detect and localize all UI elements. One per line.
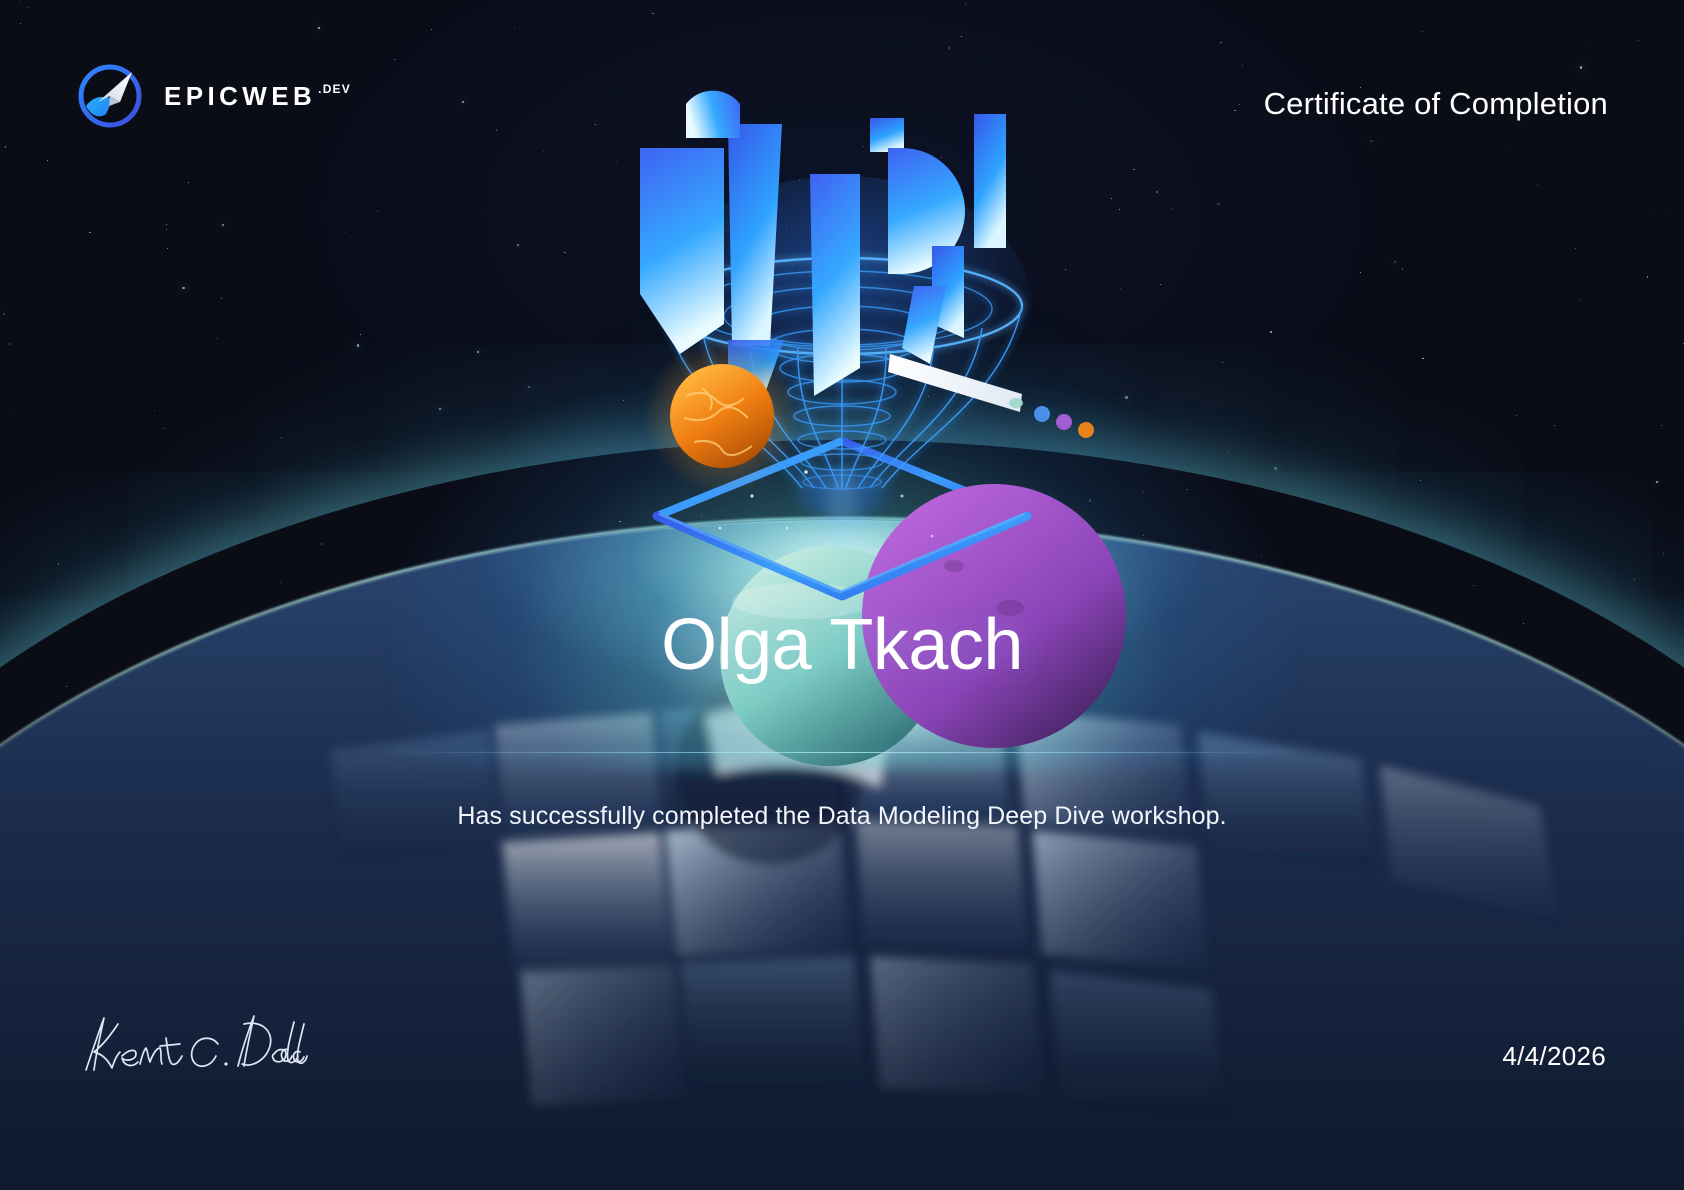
brand-suffix: .DEV bbox=[318, 82, 351, 96]
star bbox=[1638, 40, 1639, 41]
star bbox=[1670, 213, 1671, 214]
star bbox=[595, 124, 596, 125]
star bbox=[216, 338, 217, 339]
star bbox=[1239, 104, 1240, 105]
star bbox=[154, 410, 155, 411]
star bbox=[1360, 272, 1361, 273]
star bbox=[1420, 480, 1421, 481]
star bbox=[167, 248, 168, 249]
orange-planet bbox=[644, 338, 800, 494]
star bbox=[377, 210, 378, 211]
star bbox=[1119, 209, 1120, 210]
star bbox=[514, 27, 515, 28]
star bbox=[318, 27, 320, 29]
star bbox=[1575, 248, 1576, 249]
brand-wordmark: EPICWEB .DEV bbox=[164, 81, 351, 112]
star bbox=[431, 29, 432, 30]
star bbox=[47, 160, 48, 161]
certificate-title: Certificate of Completion bbox=[1264, 86, 1608, 122]
star bbox=[1217, 203, 1220, 206]
star bbox=[1554, 425, 1555, 426]
star bbox=[1186, 489, 1187, 490]
star bbox=[1422, 31, 1423, 32]
star bbox=[1156, 191, 1158, 193]
star bbox=[1222, 362, 1223, 363]
star bbox=[360, 334, 361, 335]
star bbox=[1171, 208, 1172, 209]
star bbox=[1656, 481, 1658, 483]
star bbox=[1270, 331, 1271, 332]
star bbox=[1111, 198, 1112, 199]
star bbox=[27, 7, 28, 8]
star bbox=[5, 146, 6, 147]
star bbox=[1402, 268, 1403, 269]
epicweb-rocket-logo-icon bbox=[76, 62, 144, 130]
star bbox=[1089, 499, 1092, 502]
star bbox=[19, 1, 20, 2]
star bbox=[1242, 65, 1243, 66]
wormhole-artwork bbox=[602, 96, 1082, 616]
star bbox=[782, 49, 783, 50]
issue-date: 4/4/2026 bbox=[1502, 1041, 1606, 1072]
star bbox=[1234, 110, 1235, 111]
star bbox=[20, 23, 21, 24]
star bbox=[222, 224, 224, 226]
recipient-name: Olga Tkach bbox=[0, 604, 1684, 686]
certificate-canvas: EPICWEB .DEV Certificate of Completion bbox=[0, 0, 1684, 1190]
star bbox=[1516, 415, 1517, 416]
completion-statement: Has successfully completed the Data Mode… bbox=[0, 802, 1684, 831]
star bbox=[166, 224, 167, 225]
star bbox=[1579, 300, 1580, 301]
star bbox=[1274, 467, 1277, 470]
star bbox=[477, 351, 479, 353]
star bbox=[1422, 358, 1423, 359]
star bbox=[345, 232, 346, 233]
star bbox=[1227, 451, 1228, 452]
star bbox=[1370, 140, 1373, 143]
star bbox=[965, 4, 966, 5]
star bbox=[1649, 208, 1650, 209]
brand-logo[interactable]: EPICWEB .DEV bbox=[76, 62, 351, 130]
star bbox=[961, 36, 962, 37]
star bbox=[564, 252, 565, 253]
star bbox=[1120, 288, 1121, 289]
star bbox=[182, 287, 185, 290]
star bbox=[543, 151, 544, 152]
star bbox=[1220, 42, 1221, 43]
star bbox=[9, 408, 10, 409]
star bbox=[163, 428, 164, 429]
divider bbox=[392, 752, 1292, 753]
brand-name: EPICWEB bbox=[164, 81, 316, 112]
star bbox=[496, 129, 497, 130]
star bbox=[357, 344, 360, 347]
star bbox=[1661, 425, 1662, 426]
star bbox=[1509, 151, 1510, 152]
star bbox=[528, 386, 530, 388]
star bbox=[1537, 184, 1538, 185]
star bbox=[166, 229, 167, 230]
star bbox=[281, 437, 282, 438]
star bbox=[394, 59, 395, 60]
signature: Kent C. Dodds bbox=[78, 1008, 308, 1078]
star bbox=[9, 343, 11, 345]
star bbox=[1580, 66, 1583, 69]
star bbox=[1160, 284, 1161, 285]
star bbox=[1394, 261, 1396, 263]
star bbox=[221, 298, 222, 299]
star bbox=[1133, 169, 1134, 170]
star bbox=[1125, 396, 1128, 399]
star bbox=[1106, 498, 1107, 499]
star bbox=[1589, 47, 1590, 48]
star bbox=[188, 182, 189, 183]
star bbox=[652, 13, 653, 14]
star bbox=[439, 408, 441, 410]
star bbox=[3, 313, 5, 315]
star bbox=[462, 101, 464, 103]
star bbox=[1143, 492, 1144, 493]
star bbox=[517, 244, 519, 246]
star bbox=[948, 47, 950, 49]
star bbox=[1647, 276, 1648, 277]
star bbox=[89, 232, 90, 233]
